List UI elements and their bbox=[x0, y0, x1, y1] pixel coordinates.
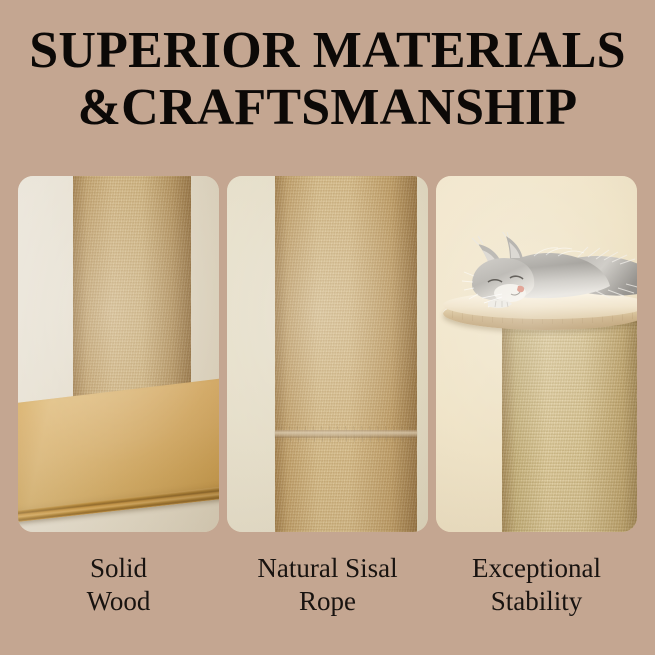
page-title: SUPERIOR MATERIALS &CRAFTSMANSHIP bbox=[0, 22, 655, 136]
caption-line-1: Exceptional bbox=[436, 552, 637, 585]
headline-line-1: SUPERIOR MATERIALS bbox=[0, 22, 655, 79]
caption-line-1: Natural Sisal bbox=[227, 552, 428, 585]
panel-vignette bbox=[436, 176, 637, 532]
marketing-banner: SUPERIOR MATERIALS &CRAFTSMANSHIP bbox=[0, 0, 655, 655]
feature-panels bbox=[18, 176, 637, 532]
caption-solid-wood: Solid Wood bbox=[18, 552, 219, 642]
panel-vignette bbox=[18, 176, 219, 532]
feature-panel-exceptional-stability bbox=[436, 176, 637, 532]
caption-line-2: Stability bbox=[436, 585, 637, 618]
feature-panel-natural-sisal-rope bbox=[227, 176, 428, 532]
caption-natural-sisal-rope: Natural Sisal Rope bbox=[227, 552, 428, 642]
feature-captions: Solid Wood Natural Sisal Rope Exceptiona… bbox=[18, 552, 637, 642]
caption-line-2: Wood bbox=[18, 585, 219, 618]
panel-vignette bbox=[227, 176, 428, 532]
headline-line-2: &CRAFTSMANSHIP bbox=[0, 79, 655, 136]
caption-line-2: Rope bbox=[227, 585, 428, 618]
caption-line-1: Solid bbox=[18, 552, 219, 585]
feature-panel-solid-wood bbox=[18, 176, 219, 532]
caption-exceptional-stability: Exceptional Stability bbox=[436, 552, 637, 642]
